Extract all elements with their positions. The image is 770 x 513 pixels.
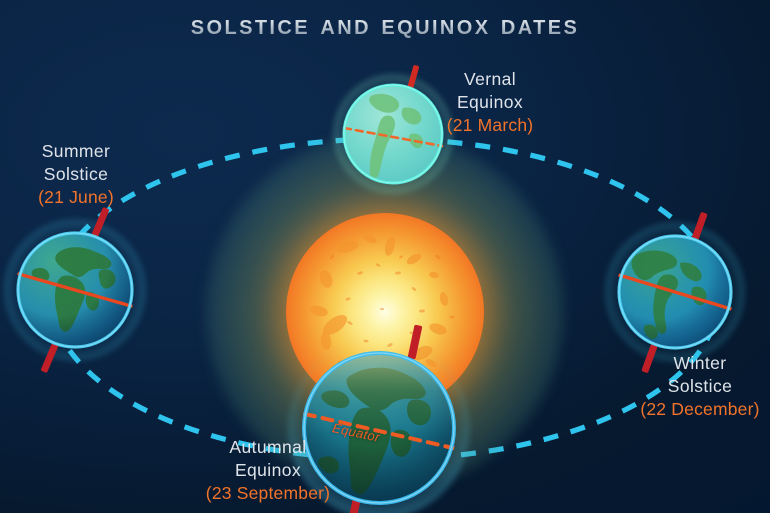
- label-summer-solstice-line1: Summer: [0, 140, 152, 163]
- label-autumnal-equinox: Autumnal Equinox (23 September): [178, 436, 358, 504]
- label-vernal-equinox: Vernal Equinox (21 March): [390, 68, 590, 136]
- label-vernal-equinox-line2: Equinox: [390, 91, 590, 114]
- label-winter-solstice: Winter Solstice (22 December): [630, 352, 770, 420]
- earth-winter-solstice: [605, 222, 745, 362]
- page-title: Solstice and Equinox Dates: [0, 9, 770, 42]
- label-winter-solstice-line2: Solstice: [630, 375, 770, 398]
- label-autumnal-equinox-line1: Autumnal: [178, 436, 358, 459]
- label-autumnal-equinox-date: (23 September): [178, 482, 358, 505]
- earth-globe: [15, 230, 135, 350]
- label-winter-solstice-line1: Winter: [630, 352, 770, 375]
- label-summer-solstice-line2: Solstice: [0, 163, 152, 186]
- label-vernal-equinox-date: (21 March): [390, 114, 590, 137]
- solstice-equinox-diagram: Solstice and Equinox Dates: [0, 0, 770, 513]
- label-summer-solstice-date: (21 June): [0, 186, 152, 209]
- earth-globe: [616, 233, 734, 351]
- label-vernal-equinox-line1: Vernal: [390, 68, 590, 91]
- label-summer-solstice: Summer Solstice (21 June): [0, 140, 152, 208]
- earth-summer-solstice: [4, 219, 146, 361]
- label-winter-solstice-date: (22 December): [630, 398, 770, 421]
- label-autumnal-equinox-line2: Equinox: [178, 459, 358, 482]
